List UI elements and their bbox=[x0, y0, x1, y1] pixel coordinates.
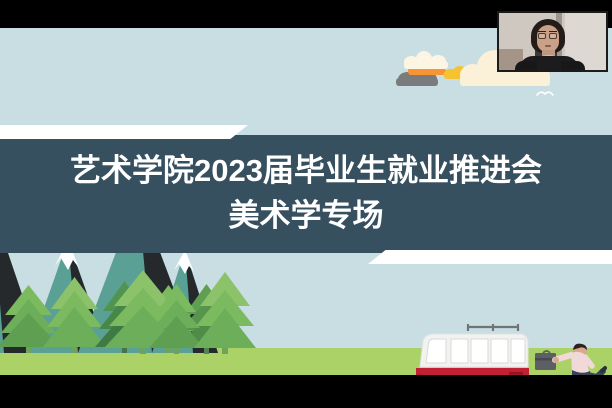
participant-brow-right bbox=[549, 31, 557, 32]
letterbox-bar-bottom bbox=[0, 375, 612, 408]
participant-shoulder-left bbox=[515, 61, 537, 72]
cloud-cream-small bbox=[404, 51, 448, 69]
running-businessman bbox=[533, 341, 607, 375]
presentation-slide: 艺术学院2023届毕业生就业推进会 美术学专场 bbox=[0, 28, 612, 375]
slide-subtitle: 美术学专场 bbox=[229, 200, 384, 233]
participant-shoulder-right bbox=[561, 61, 585, 72]
participant-glasses-left bbox=[538, 33, 546, 39]
screen-share-view: 艺术学院2023届毕业生就业推进会 美术学专场 bbox=[0, 0, 612, 408]
vintage-bus bbox=[406, 323, 532, 375]
slide-title: 艺术学院2023届毕业生就业推进会 bbox=[70, 155, 542, 188]
participant-glasses-right bbox=[549, 33, 557, 39]
participant-mouth bbox=[545, 45, 551, 47]
title-banner: 艺术学院2023届毕业生就业推进会 美术学专场 bbox=[0, 135, 612, 253]
self-view-video-tile[interactable] bbox=[497, 11, 608, 72]
accent-strip-bottom bbox=[368, 250, 612, 264]
accent-strip-top bbox=[0, 125, 248, 139]
tree-cluster-right bbox=[138, 264, 256, 358]
participant-brow-left bbox=[538, 31, 546, 32]
seagull-icon bbox=[536, 90, 554, 98]
